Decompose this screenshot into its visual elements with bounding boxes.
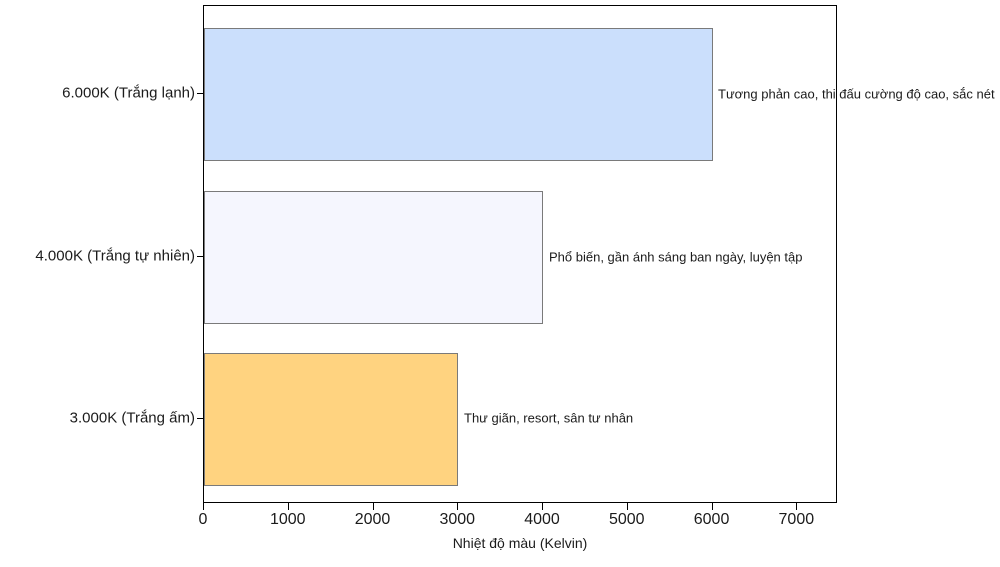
- x-tick-4000: [542, 503, 543, 510]
- bar-6000k: [204, 28, 713, 161]
- bar-3000k: [204, 353, 458, 486]
- x-tick-1000: [288, 503, 289, 510]
- x-tick-label-7000: 7000: [779, 511, 815, 529]
- y-tick-4000k: [197, 256, 204, 257]
- x-tick-label-3000: 3000: [439, 511, 475, 529]
- x-tick-label-2000: 2000: [355, 511, 391, 529]
- chart-title: Nhiệt độ màu ánh sáng sân pickleball (Ke…: [203, 0, 837, 1]
- x-tick-label-6000: 6000: [694, 511, 730, 529]
- x-tick-6000: [712, 503, 713, 510]
- bar-4000k: [204, 191, 543, 324]
- bar-chart: Nhiệt độ màu ánh sáng sân pickleball (Ke…: [0, 0, 1000, 567]
- y-label-4000k: 4.000K (Trắng tự nhiên): [35, 248, 195, 265]
- x-tick-label-0: 0: [199, 511, 208, 529]
- x-tick-label-1000: 1000: [270, 511, 306, 529]
- x-tick-5000: [627, 503, 628, 510]
- x-tick-0: [203, 503, 204, 510]
- y-label-6000k: 6.000K (Trắng lạnh): [62, 85, 195, 102]
- x-tick-2000: [373, 503, 374, 510]
- x-tick-label-5000: 5000: [609, 511, 645, 529]
- x-axis-title: Nhiệt độ màu (Kelvin): [203, 535, 837, 551]
- y-tick-3000k: [197, 418, 204, 419]
- x-tick-label-4000: 4000: [524, 511, 560, 529]
- x-tick-7000: [796, 503, 797, 510]
- plot-area: [203, 5, 837, 503]
- x-tick-3000: [457, 503, 458, 510]
- y-label-3000k: 3.000K (Trắng ấm): [70, 410, 195, 427]
- y-tick-6000k: [197, 93, 204, 94]
